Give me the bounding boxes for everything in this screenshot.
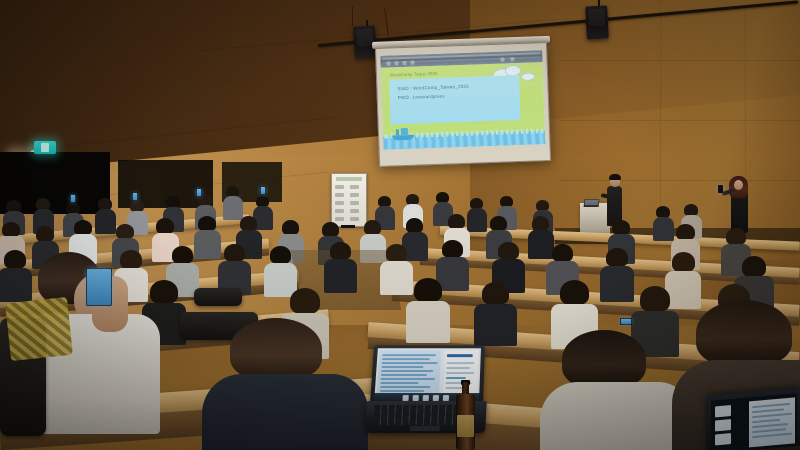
document-pane — [376, 350, 441, 398]
sponsor-banner — [331, 173, 367, 227]
banner-stand — [341, 225, 355, 228]
cloud-icon — [521, 72, 535, 80]
attendee-phone — [132, 192, 138, 201]
photographer-face — [734, 180, 743, 190]
attendee-phone — [70, 194, 76, 203]
ceiling-speaker-right — [585, 5, 609, 39]
exit-sign-glyph — [41, 143, 49, 152]
rig-wire — [352, 6, 353, 26]
patterned-tote-bag — [5, 297, 73, 361]
attendee-phone — [196, 188, 202, 197]
photographer-phone — [718, 185, 723, 193]
presenter-hair — [609, 174, 621, 180]
backpack — [194, 288, 242, 306]
drink-bottle — [456, 382, 475, 450]
smartphone — [86, 268, 112, 306]
second-laptop-screen — [711, 393, 797, 450]
lecture-hall-photo: WordCamp Taipei 2025 SSID : WordCamp_Tai… — [0, 0, 800, 450]
laptop-trackpad — [410, 426, 440, 431]
document-pane — [749, 397, 795, 447]
exit-sign — [34, 141, 56, 154]
slide: WordCamp Taipei 2025 SSID : WordCamp_Tai… — [381, 62, 546, 150]
wall-seam — [560, 120, 800, 121]
wall-seam — [560, 180, 800, 181]
banner-title — [336, 177, 362, 181]
lectern — [580, 203, 610, 234]
wall-seam — [660, 0, 661, 230]
boat-icon — [392, 126, 414, 141]
projected-image: WordCamp Taipei 2025 SSID : WordCamp_Tai… — [380, 50, 545, 150]
projector-screen: WordCamp Taipei 2025 SSID : WordCamp_Tai… — [375, 42, 551, 167]
attendee-phone — [260, 186, 266, 195]
presenter-laptop — [584, 199, 600, 207]
slide-header: WordCamp Taipei 2025 — [390, 71, 438, 78]
bottle-label — [457, 415, 474, 437]
second-laptop — [706, 392, 800, 450]
wall-seam — [560, 60, 800, 61]
attendee-phone — [620, 318, 632, 325]
